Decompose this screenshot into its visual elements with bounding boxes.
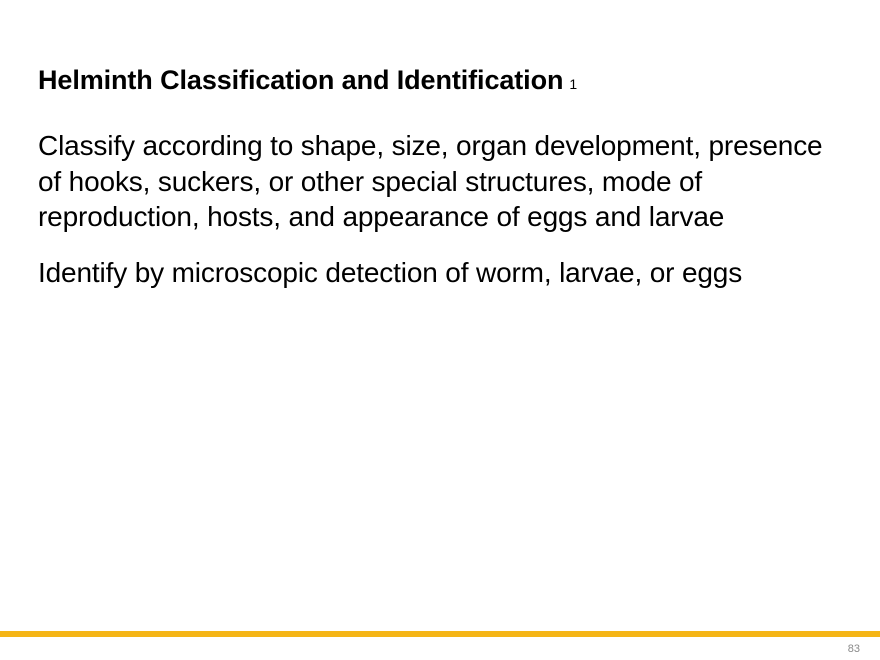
body-paragraph-1: Classify according to shape, size, organ…	[38, 128, 828, 235]
slide-body: Classify according to shape, size, organ…	[38, 128, 828, 290]
footer-accent-rule	[0, 631, 880, 637]
body-paragraph-2: Identify by microscopic detection of wor…	[38, 255, 828, 291]
slide-canvas: Helminth Classification and Identificati…	[0, 0, 880, 660]
page-title-superscript: 1	[569, 76, 577, 92]
page-number: 83	[848, 642, 860, 656]
page-title: Helminth Classification and Identificati…	[38, 63, 848, 101]
page-title-text: Helminth Classification and Identificati…	[38, 65, 563, 95]
